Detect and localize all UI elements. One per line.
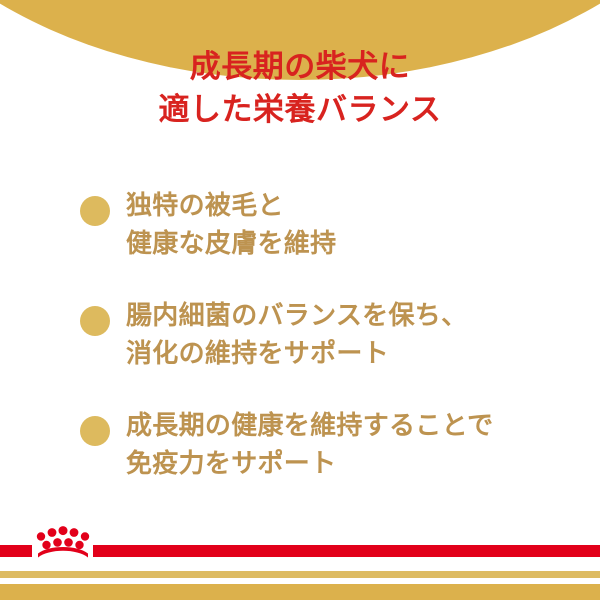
benefits-list: 独特の被毛と 健康な皮膚を維持 腸内細菌のバランスを保ち、 消化の維持をサポート… bbox=[0, 186, 600, 516]
benefit-line-2: 免疫力をサポート bbox=[126, 444, 493, 482]
benefit-line-2: 消化の維持をサポート bbox=[126, 334, 467, 372]
page-title: 成長期の柴犬に 適した栄養バランス bbox=[0, 46, 600, 132]
list-item: 腸内細菌のバランスを保ち、 消化の維持をサポート bbox=[0, 296, 600, 373]
red-rule-icon-right bbox=[93, 545, 600, 557]
title-line-1: 成長期の柴犬に bbox=[0, 46, 600, 89]
gold-stripe-thin-icon bbox=[0, 571, 600, 578]
royal-canin-crown-icon bbox=[35, 524, 91, 560]
benefit-line-2: 健康な皮膚を維持 bbox=[126, 224, 336, 262]
product-benefits-banner: 成長期の柴犬に 適した栄養バランス 独特の被毛と 健康な皮膚を維持 腸内細菌のバ… bbox=[0, 0, 600, 600]
red-rule-icon-left bbox=[0, 545, 32, 557]
benefit-text: 腸内細菌のバランスを保ち、 消化の維持をサポート bbox=[126, 296, 467, 373]
list-item: 独特の被毛と 健康な皮膚を維持 bbox=[0, 186, 600, 263]
title-line-2: 適した栄養バランス bbox=[0, 89, 600, 132]
benefit-text: 成長期の健康を維持することで 免疫力をサポート bbox=[126, 406, 493, 483]
bullet-dot-icon bbox=[80, 416, 110, 446]
bullet-dot-icon bbox=[80, 306, 110, 336]
benefit-line-1: 腸内細菌のバランスを保ち、 bbox=[126, 296, 467, 334]
benefit-line-1: 独特の被毛と bbox=[126, 186, 336, 224]
list-item: 成長期の健康を維持することで 免疫力をサポート bbox=[0, 406, 600, 483]
benefit-line-1: 成長期の健康を維持することで bbox=[126, 406, 493, 444]
benefit-text: 独特の被毛と 健康な皮膚を維持 bbox=[126, 186, 336, 263]
gold-stripe-thick-icon bbox=[0, 584, 600, 600]
bullet-dot-icon bbox=[80, 196, 110, 226]
